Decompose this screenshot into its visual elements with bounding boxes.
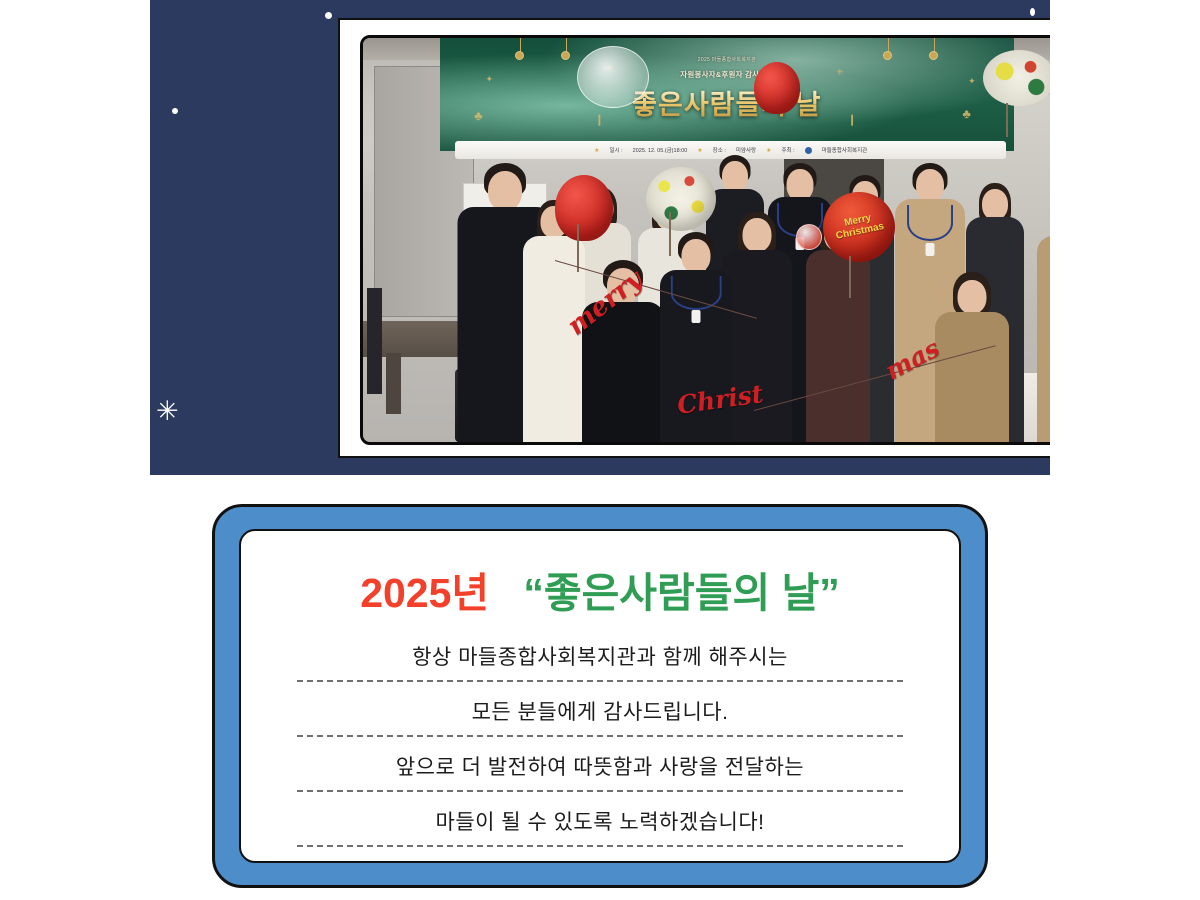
person <box>1029 200 1050 442</box>
balloon-red-small <box>754 62 800 114</box>
banner-host-label: 주최 : <box>782 146 795 154</box>
confetti-dot <box>172 108 178 114</box>
event-banner: ✦ ✳ ✳ ✦ ♣ ♣ ❙ ❙ 2025 마들종합사회복지관 자원봉사자&후원자… <box>440 38 1015 151</box>
balloon-red <box>555 175 613 241</box>
confetti-dot <box>325 12 332 19</box>
message-line: 앞으로 더 발전하여 따뜻함과 사랑을 전달하는 <box>297 751 903 792</box>
banner-sub-line: 자원봉사자&후원자 감사행사 <box>440 69 1015 80</box>
star-icon: ★ <box>697 147 702 154</box>
banner-place-value: 미얌사랑 <box>736 146 756 154</box>
christmas-ornament <box>796 224 822 250</box>
message-panel: 2025년 “좋은사람들의 날” 항상 마들종합사회복지관과 함께 해주시는 모… <box>239 529 961 863</box>
photo-card: ✦ ✳ ✳ ✦ ♣ ♣ ❙ ❙ 2025 마들종합사회복지관 자원봉사자&후원자… <box>338 18 1050 458</box>
banner-date-value: 2025. 12. 05.(금)18:00 <box>633 146 688 154</box>
balloon-merry-christmas: Merry Christmas <box>823 192 895 262</box>
confetti-dot <box>1030 8 1035 16</box>
card-title-year: 2025년 <box>360 570 489 616</box>
slide-canvas: ❄ ✳ <box>0 0 1200 900</box>
star-icon: ★ <box>766 147 771 154</box>
message-line: 항상 마들종합사회복지관과 함께 해주시는 <box>297 641 903 682</box>
snowflake-icon: ✳ <box>156 398 179 425</box>
star-icon: ★ <box>594 147 599 154</box>
banner-date-label: 일시 : <box>609 146 622 154</box>
card-title-event: “좋은사람들의 날” <box>523 570 839 616</box>
balloon-green <box>983 50 1050 106</box>
banner-place-label: 장소 : <box>713 146 726 154</box>
message-card: 2025년 “좋은사람들의 날” 항상 마들종합사회복지관과 함께 해주시는 모… <box>212 504 988 888</box>
banner-host-value: 마들종합사회복지관 <box>822 146 868 154</box>
message-line: 마들이 될 수 있도록 노력하겠습니다! <box>297 806 903 847</box>
organization-logo-icon <box>805 147 812 154</box>
microphone-stand <box>367 288 382 393</box>
card-title: 2025년 “좋은사람들의 날” <box>297 559 903 619</box>
banner-title: 좋은사람들의 날 <box>440 83 1015 122</box>
photo-slide-frame: ❄ ✳ <box>150 0 1050 475</box>
table-leg <box>386 353 401 414</box>
balloon-text: Merry Christmas <box>821 209 896 245</box>
event-photograph: ✦ ✳ ✳ ✦ ♣ ♣ ❙ ❙ 2025 마들종합사회복지관 자원봉사자&후원자… <box>360 35 1050 445</box>
banner-top-line: 2025 마들종합사회복지관 <box>440 56 1015 63</box>
message-line: 모든 분들에게 감사드립니다. <box>297 696 903 737</box>
